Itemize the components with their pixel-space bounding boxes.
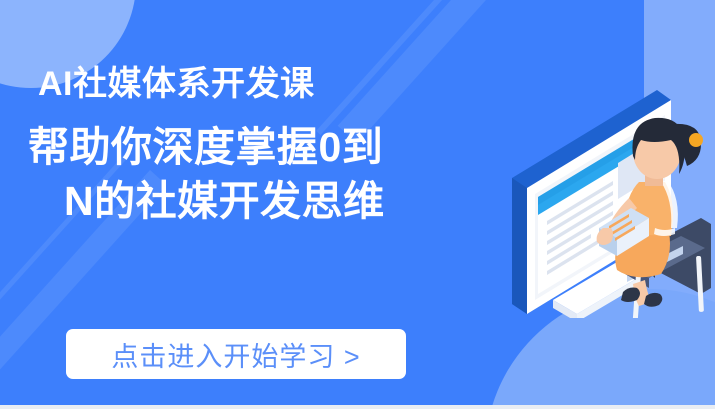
bottom-edge-strip <box>0 405 715 409</box>
banner-copy: AI社媒体系开发课 帮助你深度掌握0到 N的社媒开发思维 <box>38 62 518 228</box>
woman-at-desktop-computer-illustration <box>505 78 715 318</box>
page-title: AI社媒体系开发课 <box>38 62 518 106</box>
promo-banner: AI社媒体系开发课 帮助你深度掌握0到 N的社媒开发思维 点击进入开始学习 > <box>0 0 715 409</box>
start-learning-button[interactable]: 点击进入开始学习 > <box>66 329 406 379</box>
subtitle-line-1: 帮助你深度掌握0到 <box>28 120 518 174</box>
start-learning-button-label: 点击进入开始学习 > <box>111 335 360 374</box>
subtitle-line-2: N的社媒开发思维 <box>64 174 518 228</box>
